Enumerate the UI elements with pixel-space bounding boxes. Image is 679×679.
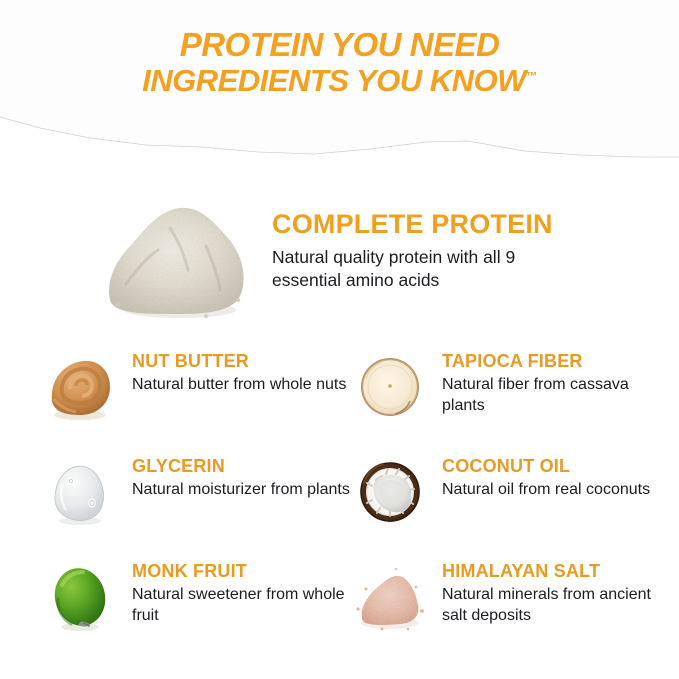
torn-edge-graphic xyxy=(0,112,679,170)
ingredient-title: COCONUT OIL xyxy=(442,457,667,477)
torn-paper-edge xyxy=(0,112,679,170)
headline-line-2-text: INGREDIENTS YOU KNOW xyxy=(142,63,526,98)
glycerin-graphic xyxy=(42,454,118,530)
ingredient-item-coconut-oil: COCONUT OIL Natural oil from real coconu… xyxy=(332,450,662,555)
ingredient-text-block: TAPIOCA FIBER Natural fiber from cassava… xyxy=(442,352,667,416)
protein-powder-graphic xyxy=(88,188,263,328)
ingredient-row: NUT BUTTER Natural butter from whole nut… xyxy=(0,345,679,450)
trademark-symbol: ™ xyxy=(526,70,537,82)
ingredient-description: Natural moisturizer from plants xyxy=(132,480,357,501)
ingredient-description: Natural minerals from ancient salt depos… xyxy=(442,585,667,627)
ingredient-row: MONK FRUIT Natural sweetener from whole … xyxy=(0,555,679,660)
headline-line-1: PROTEIN YOU NEED xyxy=(0,28,679,62)
ingredient-text-block: COCONUT OIL Natural oil from real coconu… xyxy=(442,457,667,501)
ingredient-description: Natural fiber from cassava plants xyxy=(442,375,667,417)
page-headline: PROTEIN YOU NEED INGREDIENTS YOU KNOW™ xyxy=(0,28,679,96)
ingredient-item-glycerin: GLYCERIN Natural moisturizer from plants xyxy=(22,450,352,555)
coconut-half-icon xyxy=(352,454,428,530)
ingredient-item-tapioca-fiber: TAPIOCA FIBER Natural fiber from cassava… xyxy=(332,345,662,450)
ingredient-description: Natural butter from whole nuts xyxy=(132,375,357,396)
tapioca-root-slice-icon xyxy=(352,349,428,425)
ingredient-item-himalayan-salt: HIMALAYAN SALT Natural minerals from anc… xyxy=(332,555,662,660)
monk-fruit-graphic xyxy=(42,559,118,635)
ingredient-title: MONK FRUIT xyxy=(132,562,357,582)
ingredient-item-nut-butter: NUT BUTTER Natural butter from whole nut… xyxy=(22,345,352,450)
ingredient-row: GLYCERIN Natural moisturizer from plants xyxy=(0,450,679,555)
monk-fruit-icon xyxy=(42,559,118,635)
ingredient-title: TAPIOCA FIBER xyxy=(442,352,667,372)
ingredient-description: Natural oil from real coconuts xyxy=(442,480,667,501)
glycerin-droplet-icon xyxy=(42,454,118,530)
ingredient-text-block: MONK FRUIT Natural sweetener from whole … xyxy=(132,562,357,626)
ingredient-title: NUT BUTTER xyxy=(132,352,357,372)
ingredient-title: GLYCERIN xyxy=(132,457,357,477)
ingredient-text-block: GLYCERIN Natural moisturizer from plants xyxy=(132,457,357,501)
feature-title: COMPLETE PROTEIN xyxy=(272,210,652,240)
nut-butter-swirl-icon xyxy=(42,349,118,425)
nut-butter-graphic xyxy=(42,349,118,425)
ingredient-text-block: NUT BUTTER Natural butter from whole nut… xyxy=(132,352,357,396)
ingredient-title: HIMALAYAN SALT xyxy=(442,562,667,582)
ingredient-description: Natural sweetener from whole fruit xyxy=(132,585,357,627)
ingredient-text-block: HIMALAYAN SALT Natural minerals from anc… xyxy=(442,562,667,626)
coconut-graphic xyxy=(352,454,428,530)
feature-description: Natural quality protein with all 9 essen… xyxy=(272,246,572,292)
headline-line-2: INGREDIENTS YOU KNOW™ xyxy=(0,65,679,97)
header-banner: PROTEIN YOU NEED INGREDIENTS YOU KNOW™ xyxy=(0,0,679,170)
himalayan-salt-pile-icon xyxy=(352,559,428,635)
feature-text-block: COMPLETE PROTEIN Natural quality protein… xyxy=(272,210,652,292)
protein-powder-pile-icon xyxy=(88,188,263,328)
ingredient-item-monk-fruit: MONK FRUIT Natural sweetener from whole … xyxy=(22,555,352,660)
tapioca-graphic xyxy=(352,349,428,425)
himalayan-salt-graphic xyxy=(352,559,428,635)
ingredient-grid: NUT BUTTER Natural butter from whole nut… xyxy=(0,345,679,660)
feature-ingredient-row: COMPLETE PROTEIN Natural quality protein… xyxy=(0,186,679,336)
